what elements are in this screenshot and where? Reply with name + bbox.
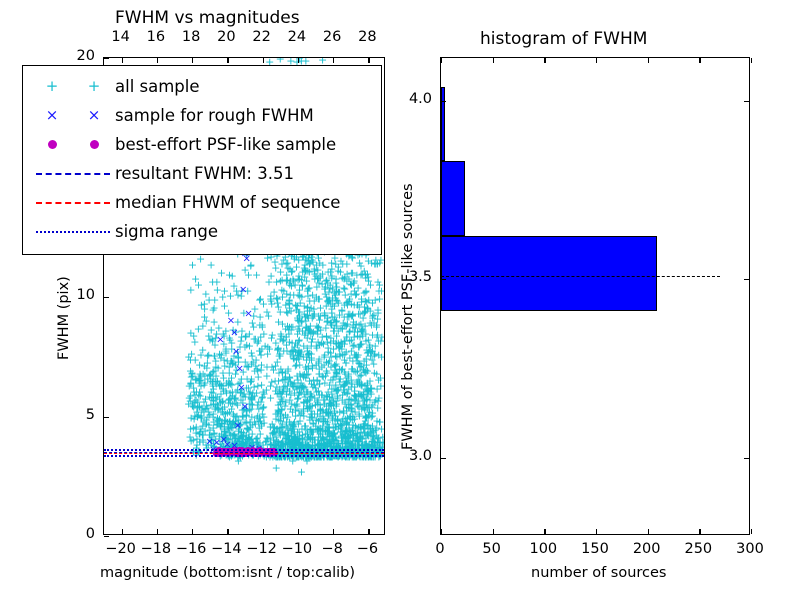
legend-box: ++all sample××sample for rough FWHMbest-… — [22, 65, 382, 255]
all-sample-point: + — [206, 370, 215, 377]
all-sample-point: + — [195, 362, 204, 369]
all-sample-point: + — [365, 343, 374, 350]
all-sample-point: + — [316, 427, 325, 434]
all-sample-point: + — [254, 405, 263, 412]
all-sample-point: + — [359, 392, 368, 399]
all-sample-point: + — [306, 330, 315, 337]
all-sample-point: + — [277, 261, 286, 268]
all-sample-point: + — [350, 397, 359, 404]
all-sample-point: + — [216, 441, 225, 448]
all-sample-point: + — [368, 347, 377, 354]
all-sample-point: + — [354, 377, 363, 384]
all-sample-point: + — [266, 423, 275, 430]
all-sample-point: + — [307, 304, 316, 311]
all-sample-point: + — [200, 372, 209, 379]
all-sample-point: + — [215, 396, 224, 403]
all-sample-point: + — [286, 277, 295, 284]
all-sample-point: + — [201, 420, 210, 427]
all-sample-point: + — [363, 379, 372, 386]
rough-fwhm-point: × — [241, 403, 249, 410]
all-sample-point: + — [327, 434, 336, 441]
all-sample-point: + — [326, 350, 335, 357]
all-sample-point: + — [295, 370, 304, 377]
all-sample-point: + — [351, 351, 360, 358]
all-sample-point: + — [294, 438, 303, 445]
all-sample-point: + — [360, 397, 369, 404]
all-sample-point: + — [241, 437, 250, 444]
all-sample-point: + — [359, 357, 368, 364]
all-sample-point: + — [314, 418, 323, 425]
all-sample-point: + — [315, 425, 324, 432]
all-sample-point: + — [330, 254, 339, 261]
all-sample-point: + — [242, 441, 251, 448]
all-sample-point: + — [287, 348, 296, 355]
all-sample-point: + — [313, 410, 322, 417]
all-sample-point: + — [227, 375, 236, 382]
all-sample-point: + — [283, 442, 292, 449]
all-sample-point: + — [300, 310, 309, 317]
all-sample-point: + — [286, 405, 295, 412]
all-sample-point: + — [353, 441, 362, 448]
all-sample-point: + — [357, 382, 366, 389]
all-sample-point: + — [216, 409, 225, 416]
x-tick — [157, 529, 158, 534]
all-sample-point: + — [346, 401, 355, 408]
top-x-tick — [263, 58, 264, 63]
all-sample-point: + — [216, 355, 225, 362]
all-sample-point: + — [231, 421, 240, 428]
all-sample-point: + — [320, 285, 329, 292]
all-sample-point: + — [318, 422, 327, 429]
all-sample-point: + — [342, 378, 351, 385]
all-sample-point: + — [365, 426, 374, 433]
all-sample-point: + — [300, 273, 309, 280]
all-sample-point: + — [231, 438, 240, 445]
all-sample-point: + — [285, 298, 294, 305]
all-sample-point: + — [295, 433, 304, 440]
all-sample-point: + — [217, 382, 226, 389]
all-sample-point: + — [186, 398, 195, 405]
all-sample-point: + — [195, 438, 204, 445]
all-sample-point: + — [262, 364, 271, 371]
all-sample-point: + — [313, 425, 322, 432]
all-sample-point: + — [184, 353, 193, 360]
all-sample-point: + — [274, 344, 283, 351]
all-sample-point: + — [363, 382, 372, 389]
all-sample-point: + — [332, 438, 341, 445]
all-sample-point: + — [322, 333, 331, 340]
all-sample-point: + — [300, 314, 309, 321]
all-sample-point: + — [282, 347, 291, 354]
all-sample-point: + — [198, 432, 207, 439]
all-sample-point: + — [231, 395, 240, 402]
all-sample-point: + — [316, 327, 325, 334]
hist-top-tick — [751, 58, 752, 63]
all-sample-point: + — [290, 436, 299, 443]
all-sample-point: + — [309, 421, 318, 428]
all-sample-point: + — [352, 351, 361, 358]
all-sample-point: + — [315, 259, 324, 266]
all-sample-point: + — [237, 292, 246, 299]
all-sample-point: + — [253, 413, 262, 420]
all-sample-point: + — [287, 428, 296, 435]
all-sample-point: + — [355, 360, 364, 367]
cross-icon: ×× — [31, 108, 115, 123]
all-sample-point: + — [367, 404, 376, 411]
all-sample-point: + — [315, 272, 324, 279]
all-sample-point: + — [314, 323, 323, 330]
all-sample-point: + — [334, 288, 343, 295]
all-sample-point: + — [189, 333, 198, 340]
all-sample-point: + — [321, 291, 330, 298]
all-sample-point: + — [364, 433, 373, 440]
all-sample-point: + — [299, 406, 308, 413]
all-sample-point: + — [287, 434, 296, 441]
all-sample-point: + — [353, 433, 362, 440]
all-sample-point: + — [314, 255, 323, 262]
all-sample-point: + — [373, 438, 382, 445]
all-sample-point: + — [294, 392, 303, 399]
all-sample-point: + — [295, 440, 304, 447]
all-sample-point: + — [258, 322, 267, 329]
all-sample-point: + — [304, 352, 313, 359]
histogram-bar — [441, 236, 657, 311]
all-sample-point: + — [345, 427, 354, 434]
all-sample-point: + — [361, 404, 370, 411]
all-sample-point: + — [348, 323, 357, 330]
all-sample-point: + — [184, 401, 193, 408]
y-tick-label: 0 — [65, 526, 95, 542]
all-sample-point: + — [228, 424, 237, 431]
all-sample-point: + — [252, 365, 261, 372]
all-sample-point: + — [290, 441, 299, 448]
all-sample-point: + — [268, 420, 277, 427]
all-sample-point: + — [354, 343, 363, 350]
all-sample-point: + — [314, 313, 323, 320]
all-sample-point: + — [347, 381, 356, 388]
all-sample-point: + — [324, 412, 333, 419]
all-sample-point: + — [344, 371, 353, 378]
all-sample-point: + — [304, 326, 313, 333]
all-sample-point: + — [366, 282, 375, 289]
all-sample-point: + — [238, 406, 247, 413]
x-tick-label: −6 — [351, 541, 383, 557]
all-sample-point: + — [323, 430, 332, 437]
all-sample-point: + — [233, 402, 242, 409]
all-sample-point: + — [366, 347, 375, 354]
all-sample-point: + — [332, 437, 341, 444]
all-sample-point: + — [289, 384, 298, 391]
all-sample-point: + — [272, 425, 281, 432]
all-sample-point: + — [232, 288, 241, 295]
all-sample-point: + — [242, 413, 251, 420]
all-sample-point: + — [314, 279, 323, 286]
all-sample-point: + — [235, 379, 244, 386]
all-sample-point: + — [274, 369, 283, 376]
all-sample-point: + — [269, 437, 278, 444]
all-sample-point: + — [302, 257, 311, 264]
all-sample-point: + — [255, 296, 264, 303]
all-sample-point: + — [350, 302, 359, 309]
all-sample-point: + — [296, 348, 305, 355]
all-sample-point: + — [332, 388, 341, 395]
all-sample-point: + — [291, 362, 300, 369]
all-sample-point: + — [273, 410, 282, 417]
top-x-tick — [157, 58, 158, 63]
all-sample-point: + — [370, 351, 379, 358]
all-sample-point: + — [342, 428, 351, 435]
all-sample-point: + — [198, 346, 207, 353]
all-sample-point: + — [256, 430, 265, 437]
all-sample-point: + — [359, 425, 368, 432]
x-tick-label: −12 — [246, 541, 278, 557]
all-sample-point: + — [303, 292, 312, 299]
all-sample-point: + — [294, 317, 303, 324]
all-sample-point: + — [345, 395, 354, 402]
all-sample-point: + — [259, 404, 268, 411]
all-sample-point: + — [326, 364, 335, 371]
all-sample-point: + — [293, 277, 302, 284]
all-sample-point: + — [341, 359, 350, 366]
all-sample-point: + — [358, 402, 367, 409]
all-sample-point: + — [291, 383, 300, 390]
all-sample-point: + — [269, 437, 278, 444]
all-sample-point: + — [325, 400, 334, 407]
all-sample-point: + — [348, 424, 357, 431]
all-sample-point: + — [365, 403, 374, 410]
all-sample-point: + — [325, 296, 334, 303]
all-sample-point: + — [361, 367, 370, 374]
all-sample-point: + — [223, 437, 232, 444]
all-sample-point: + — [351, 409, 360, 416]
all-sample-point: + — [274, 402, 283, 409]
all-sample-point: + — [355, 380, 364, 387]
all-sample-point: + — [374, 434, 383, 441]
hist-y-tick — [441, 279, 446, 280]
top-x-tick-label: 22 — [248, 29, 276, 45]
all-sample-point: + — [312, 376, 321, 383]
all-sample-point: + — [284, 435, 293, 442]
all-sample-point: + — [373, 439, 382, 446]
all-sample-point: + — [351, 423, 360, 430]
all-sample-point: + — [354, 344, 363, 351]
all-sample-point: + — [298, 281, 307, 288]
all-sample-point: + — [338, 366, 347, 373]
all-sample-point: + — [324, 431, 333, 438]
all-sample-point: + — [282, 261, 291, 268]
all-sample-point: + — [360, 420, 369, 427]
all-sample-point: + — [224, 425, 233, 432]
all-sample-point: + — [204, 409, 213, 416]
all-sample-point: + — [209, 385, 218, 392]
all-sample-point: + — [255, 415, 264, 422]
all-sample-point: + — [244, 363, 253, 370]
all-sample-point: + — [226, 293, 235, 300]
all-sample-point: + — [305, 268, 314, 275]
all-sample-point: + — [268, 429, 277, 436]
all-sample-point: + — [361, 288, 370, 295]
all-sample-point: + — [293, 303, 302, 310]
all-sample-point: + — [341, 292, 350, 299]
all-sample-point: + — [224, 400, 233, 407]
all-sample-point: + — [255, 347, 264, 354]
all-sample-point: + — [209, 430, 218, 437]
all-sample-point: + — [285, 440, 294, 447]
all-sample-point: + — [354, 404, 363, 411]
all-sample-point: + — [304, 441, 313, 448]
all-sample-point: + — [208, 279, 217, 286]
all-sample-point: + — [324, 348, 333, 355]
all-sample-point: + — [230, 422, 239, 429]
all-sample-point: + — [363, 421, 372, 428]
all-sample-point: + — [220, 363, 229, 370]
all-sample-point: + — [316, 424, 325, 431]
all-sample-point: + — [273, 359, 282, 366]
all-sample-point: + — [207, 441, 216, 448]
all-sample-point: + — [233, 348, 242, 355]
all-sample-point: + — [228, 360, 237, 367]
all-sample-point: + — [344, 437, 353, 444]
all-sample-point: + — [334, 386, 343, 393]
all-sample-point: + — [224, 438, 233, 445]
all-sample-point: + — [277, 407, 286, 414]
all-sample-point: + — [323, 428, 332, 435]
all-sample-point: + — [342, 374, 351, 381]
all-sample-point: + — [190, 339, 199, 346]
all-sample-point: + — [282, 341, 291, 348]
all-sample-point: + — [295, 438, 304, 445]
all-sample-point: + — [361, 297, 370, 304]
all-sample-point: + — [331, 261, 340, 268]
all-sample-point: + — [363, 350, 372, 357]
all-sample-point: + — [330, 407, 339, 414]
x-tick-label: −18 — [140, 541, 172, 557]
all-sample-point: + — [185, 433, 194, 440]
all-sample-point: + — [251, 439, 260, 446]
all-sample-point: + — [196, 256, 205, 263]
all-sample-point: + — [207, 261, 216, 268]
all-sample-point: + — [274, 416, 283, 423]
all-sample-point: + — [199, 408, 208, 415]
all-sample-point: + — [329, 386, 338, 393]
all-sample-point: + — [356, 433, 365, 440]
all-sample-point: + — [269, 428, 278, 435]
all-sample-point: + — [307, 354, 316, 361]
all-sample-point: + — [276, 442, 285, 449]
all-sample-point: + — [285, 339, 294, 346]
all-sample-point: + — [327, 306, 336, 313]
all-sample-point: + — [345, 295, 354, 302]
all-sample-point: + — [281, 435, 290, 442]
all-sample-point: + — [346, 442, 355, 449]
all-sample-point: + — [375, 260, 384, 267]
all-sample-point: + — [345, 311, 354, 318]
all-sample-point: + — [303, 303, 312, 310]
all-sample-point: + — [208, 381, 217, 388]
all-sample-point: + — [295, 308, 304, 315]
all-sample-point: + — [305, 357, 314, 364]
all-sample-point: + — [324, 409, 333, 416]
all-sample-point: + — [319, 416, 328, 423]
all-sample-point: + — [186, 425, 195, 432]
all-sample-point: + — [338, 422, 347, 429]
all-sample-point: + — [347, 405, 356, 412]
all-sample-point: + — [342, 348, 351, 355]
histogram-axes — [440, 57, 750, 535]
hist-x-tick-label: 300 — [732, 541, 768, 557]
all-sample-point: + — [356, 321, 365, 328]
all-sample-point: + — [236, 397, 245, 404]
all-sample-point: + — [270, 442, 279, 449]
all-sample-point: + — [349, 341, 358, 348]
all-sample-point: + — [301, 256, 310, 263]
all-sample-point: + — [306, 435, 315, 442]
all-sample-point: + — [237, 439, 246, 446]
all-sample-point: + — [333, 416, 342, 423]
all-sample-point: + — [219, 410, 228, 417]
all-sample-point: + — [205, 371, 214, 378]
all-sample-point: + — [332, 317, 341, 324]
all-sample-point: + — [353, 436, 362, 443]
all-sample-point: + — [348, 254, 357, 261]
all-sample-point: + — [301, 329, 310, 336]
all-sample-point: + — [373, 261, 382, 268]
all-sample-point: + — [312, 323, 321, 330]
all-sample-point: + — [373, 307, 382, 314]
all-sample-point: + — [310, 268, 319, 275]
all-sample-point: + — [340, 285, 349, 292]
all-sample-point: + — [363, 430, 372, 437]
all-sample-point: + — [318, 427, 327, 434]
all-sample-point: + — [288, 423, 297, 430]
all-sample-point: + — [299, 385, 308, 392]
all-sample-point: + — [342, 440, 351, 447]
all-sample-point: + — [200, 363, 209, 370]
all-sample-point: + — [330, 420, 339, 427]
all-sample-point: + — [257, 421, 266, 428]
all-sample-point: + — [331, 339, 340, 346]
all-sample-point: + — [228, 327, 237, 334]
all-sample-point: + — [309, 328, 318, 335]
all-sample-point: + — [330, 410, 339, 417]
all-sample-point: + — [218, 437, 227, 444]
all-sample-point: + — [298, 269, 307, 276]
all-sample-point: + — [210, 297, 219, 304]
all-sample-point: + — [217, 430, 226, 437]
all-sample-point: + — [220, 420, 229, 427]
all-sample-point: + — [280, 402, 289, 409]
all-sample-point: + — [354, 398, 363, 405]
all-sample-point: + — [244, 434, 253, 441]
all-sample-point: + — [326, 334, 335, 341]
all-sample-point: + — [194, 282, 203, 289]
all-sample-point: + — [285, 397, 294, 404]
all-sample-point: + — [274, 442, 283, 449]
legend-item: ++all sample — [31, 72, 373, 101]
all-sample-point: + — [211, 334, 220, 341]
all-sample-point: + — [295, 327, 304, 334]
all-sample-point: + — [348, 342, 357, 349]
all-sample-point: + — [290, 442, 299, 449]
all-sample-point: + — [262, 387, 271, 394]
all-sample-point: + — [325, 423, 334, 430]
all-sample-point: + — [300, 265, 309, 272]
y-tick — [104, 58, 109, 59]
y-tick — [104, 297, 109, 298]
all-sample-point: + — [374, 439, 383, 446]
all-sample-point: + — [276, 401, 285, 408]
all-sample-point: + — [354, 351, 363, 358]
